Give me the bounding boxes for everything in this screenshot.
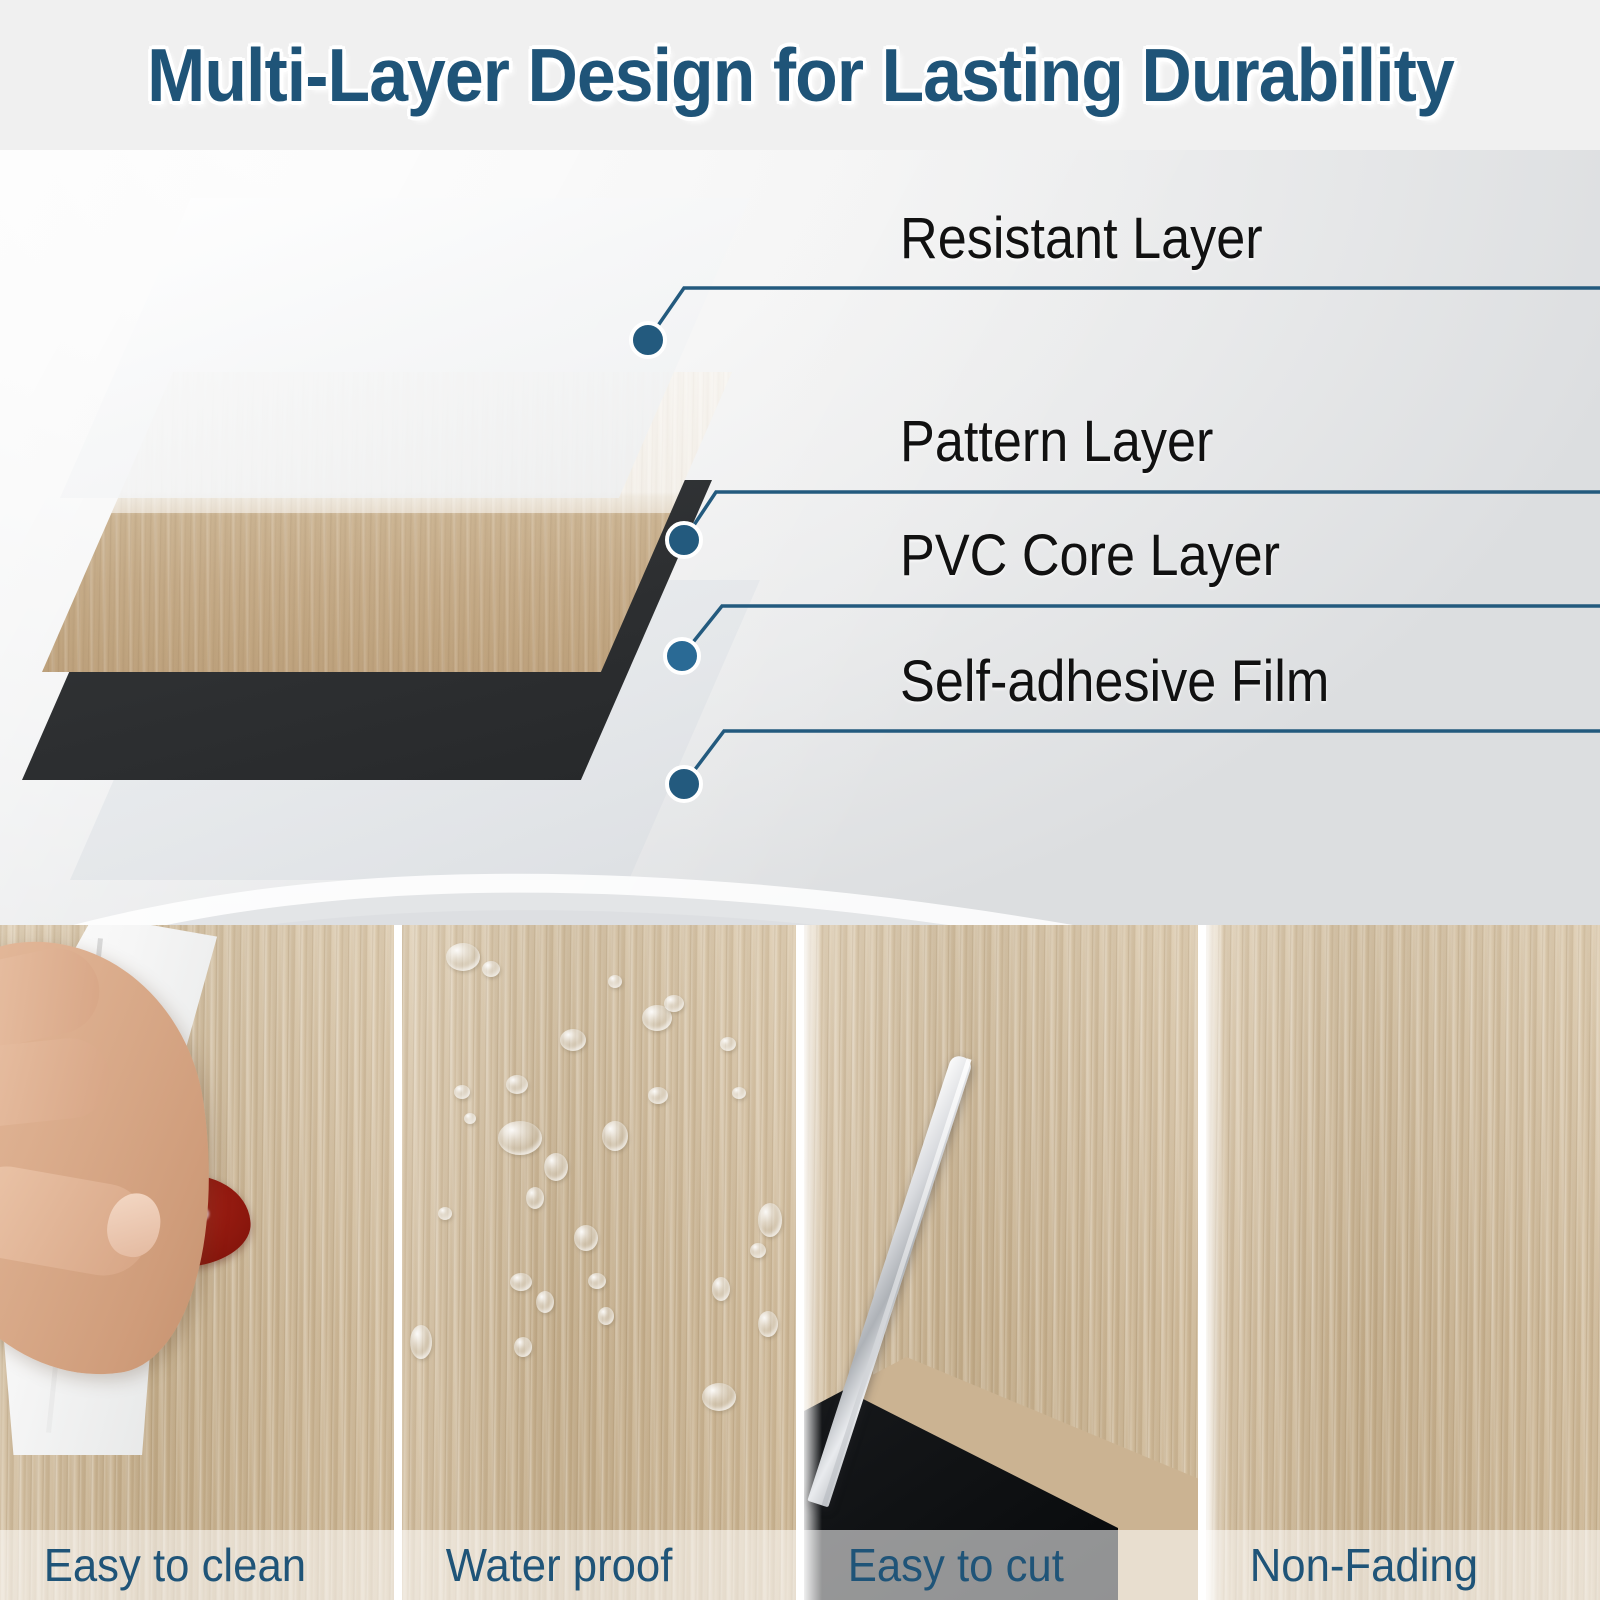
callout-label-pattern-layer: Pattern Layer <box>900 408 1213 475</box>
water-droplet <box>574 1225 598 1251</box>
product-infographic: Multi-Layer Design for Lasting Durabilit… <box>0 0 1600 1600</box>
water-droplet <box>506 1075 528 1094</box>
water-droplet <box>598 1307 614 1325</box>
water-droplet <box>510 1273 532 1291</box>
caption-strip: Easy to cut <box>804 1530 1198 1600</box>
water-droplet <box>438 1207 452 1220</box>
caption-strip: Water proof <box>402 1530 796 1600</box>
water-droplet <box>758 1203 782 1237</box>
feature-caption: Easy to clean <box>0 1538 306 1592</box>
water-droplet <box>750 1243 766 1258</box>
water-droplet <box>454 1085 470 1099</box>
feature-panel-easy-to-clean: Easy to clean <box>0 925 394 1600</box>
callout-label-pvc-core-layer: PVC Core Layer <box>900 522 1280 589</box>
diagram-section: Multi-Layer Design for Lasting Durabilit… <box>0 0 1600 960</box>
water-droplet <box>588 1273 606 1289</box>
water-droplet <box>720 1037 736 1051</box>
water-droplet <box>410 1325 432 1359</box>
caption-strip: Easy to clean <box>0 1530 394 1600</box>
water-droplet <box>498 1121 542 1155</box>
water-droplet <box>544 1153 568 1181</box>
water-droplet <box>482 961 500 977</box>
caption-strip: Non-Fading <box>1206 1530 1600 1600</box>
callout-label-resistant-layer: Resistant Layer <box>900 205 1263 272</box>
panel-edge-highlight <box>1206 925 1224 1600</box>
feature-panel-non-fading: Non-Fading <box>1206 925 1600 1600</box>
water-droplet <box>464 1113 476 1124</box>
water-droplet <box>608 975 622 988</box>
wood-texture <box>402 925 796 1600</box>
callout-label-self-adhesive-film: Self-adhesive Film <box>900 648 1329 715</box>
feature-panel-easy-to-cut: Easy to cut <box>804 925 1198 1600</box>
feature-panel-water-proof: Water proof <box>402 925 796 1600</box>
water-droplet <box>732 1087 746 1099</box>
wood-texture <box>1206 925 1600 1600</box>
feature-caption: Easy to cut <box>804 1538 1064 1592</box>
callout-labels: Resistant Layer Pattern Layer PVC Core L… <box>0 0 1600 960</box>
feature-caption: Water proof <box>402 1538 672 1592</box>
water-droplet <box>702 1383 736 1411</box>
water-droplet <box>712 1277 730 1301</box>
water-droplet <box>664 995 684 1012</box>
water-droplet <box>536 1291 554 1313</box>
water-droplet <box>758 1311 778 1337</box>
water-droplet <box>648 1087 668 1104</box>
water-droplet <box>526 1187 544 1209</box>
water-droplet <box>514 1337 532 1357</box>
water-droplet <box>560 1029 586 1051</box>
water-droplet <box>446 943 480 971</box>
water-droplet <box>602 1121 628 1151</box>
feature-panels: Easy to clean <box>0 925 1600 1600</box>
feature-caption: Non-Fading <box>1206 1538 1478 1592</box>
